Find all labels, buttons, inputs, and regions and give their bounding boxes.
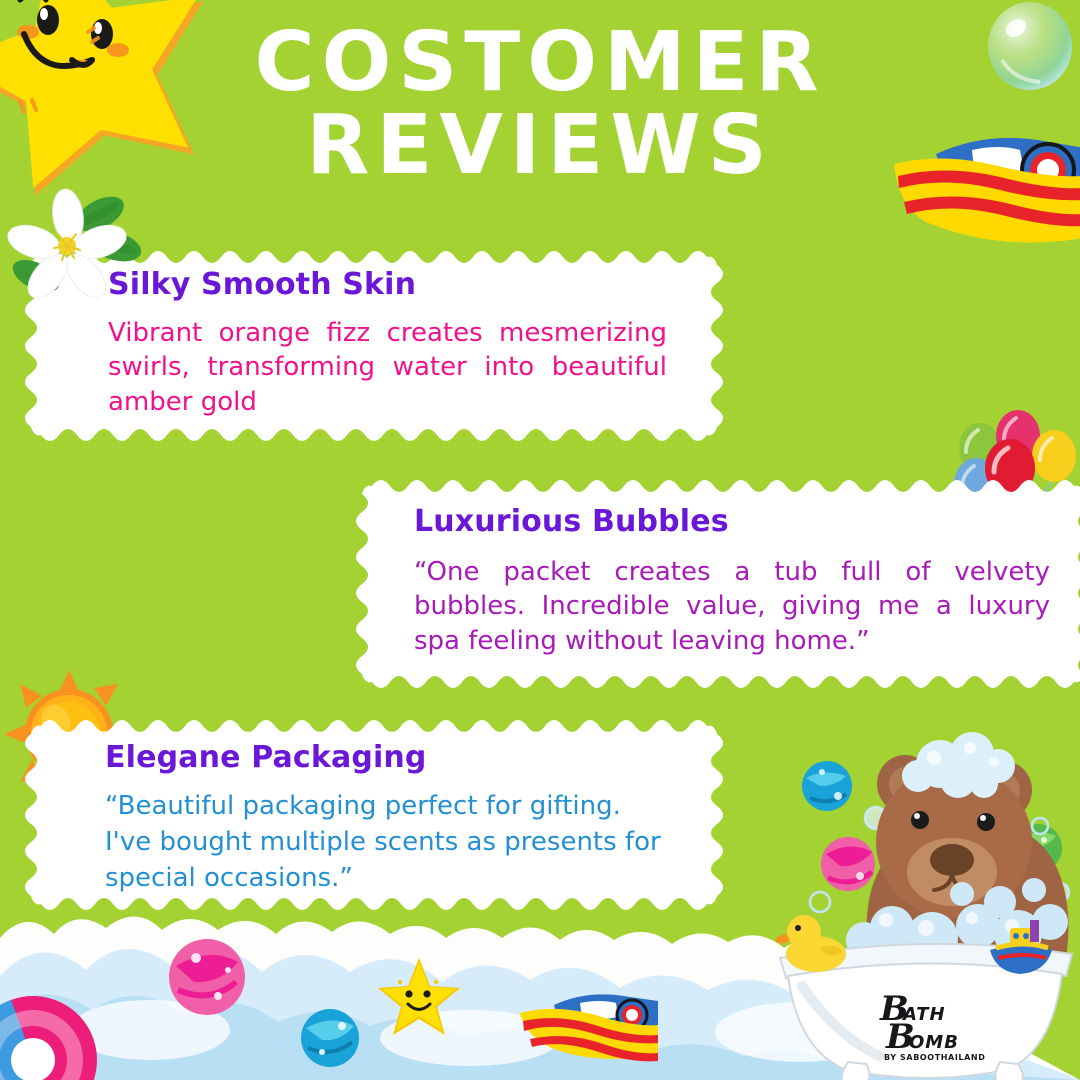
swim-ring-icon [0, 985, 108, 1080]
poster-canvas: Silky Smooth Skin Vibrant orange fizz cr… [0, 0, 1080, 1080]
page-title: COSTOMER REVIEWS [0, 24, 1080, 185]
toy-boat-icon-bottom [518, 985, 658, 1063]
title-line-2: REVIEWS [0, 107, 1080, 186]
review-card-1-body: Vibrant orange fizz creates mesmerizing … [108, 316, 667, 419]
review-card-3: Elegane Packaging “Beautiful packaging p… [35, 712, 713, 917]
teddy-bear-in-bathtub: B ATH B OMB BY SABOOTHAILAND [772, 742, 1080, 1080]
review-card-2-body: “One packet creates a tub full of velvet… [414, 555, 1050, 658]
review-card-2-heading: Luxurious Bubbles [414, 504, 1050, 539]
bath-bomb-pink-icon [168, 938, 246, 1016]
jasmine-flower-icon [12, 192, 132, 304]
review-card-3-body: “Beautiful packaging perfect for gifting… [105, 789, 667, 897]
review-card-1-heading: Silky Smooth Skin [108, 267, 667, 302]
review-card-3-heading: Elegane Packaging [105, 740, 667, 775]
svg-text:BY SABOOTHAILAND: BY SABOOTHAILAND [884, 1053, 985, 1062]
smiling-star-icon-small [378, 956, 460, 1036]
svg-text:OMB: OMB [909, 1032, 959, 1053]
review-card-1: Silky Smooth Skin Vibrant orange fizz cr… [35, 243, 713, 445]
bath-bomb-pink [821, 837, 875, 891]
title-line-1: COSTOMER [0, 24, 1080, 103]
bath-bomb-blue-icon [300, 1008, 360, 1068]
bath-bomb-blue [802, 761, 852, 811]
review-card-2: Luxurious Bubbles “One packet creates a … [366, 472, 1080, 682]
